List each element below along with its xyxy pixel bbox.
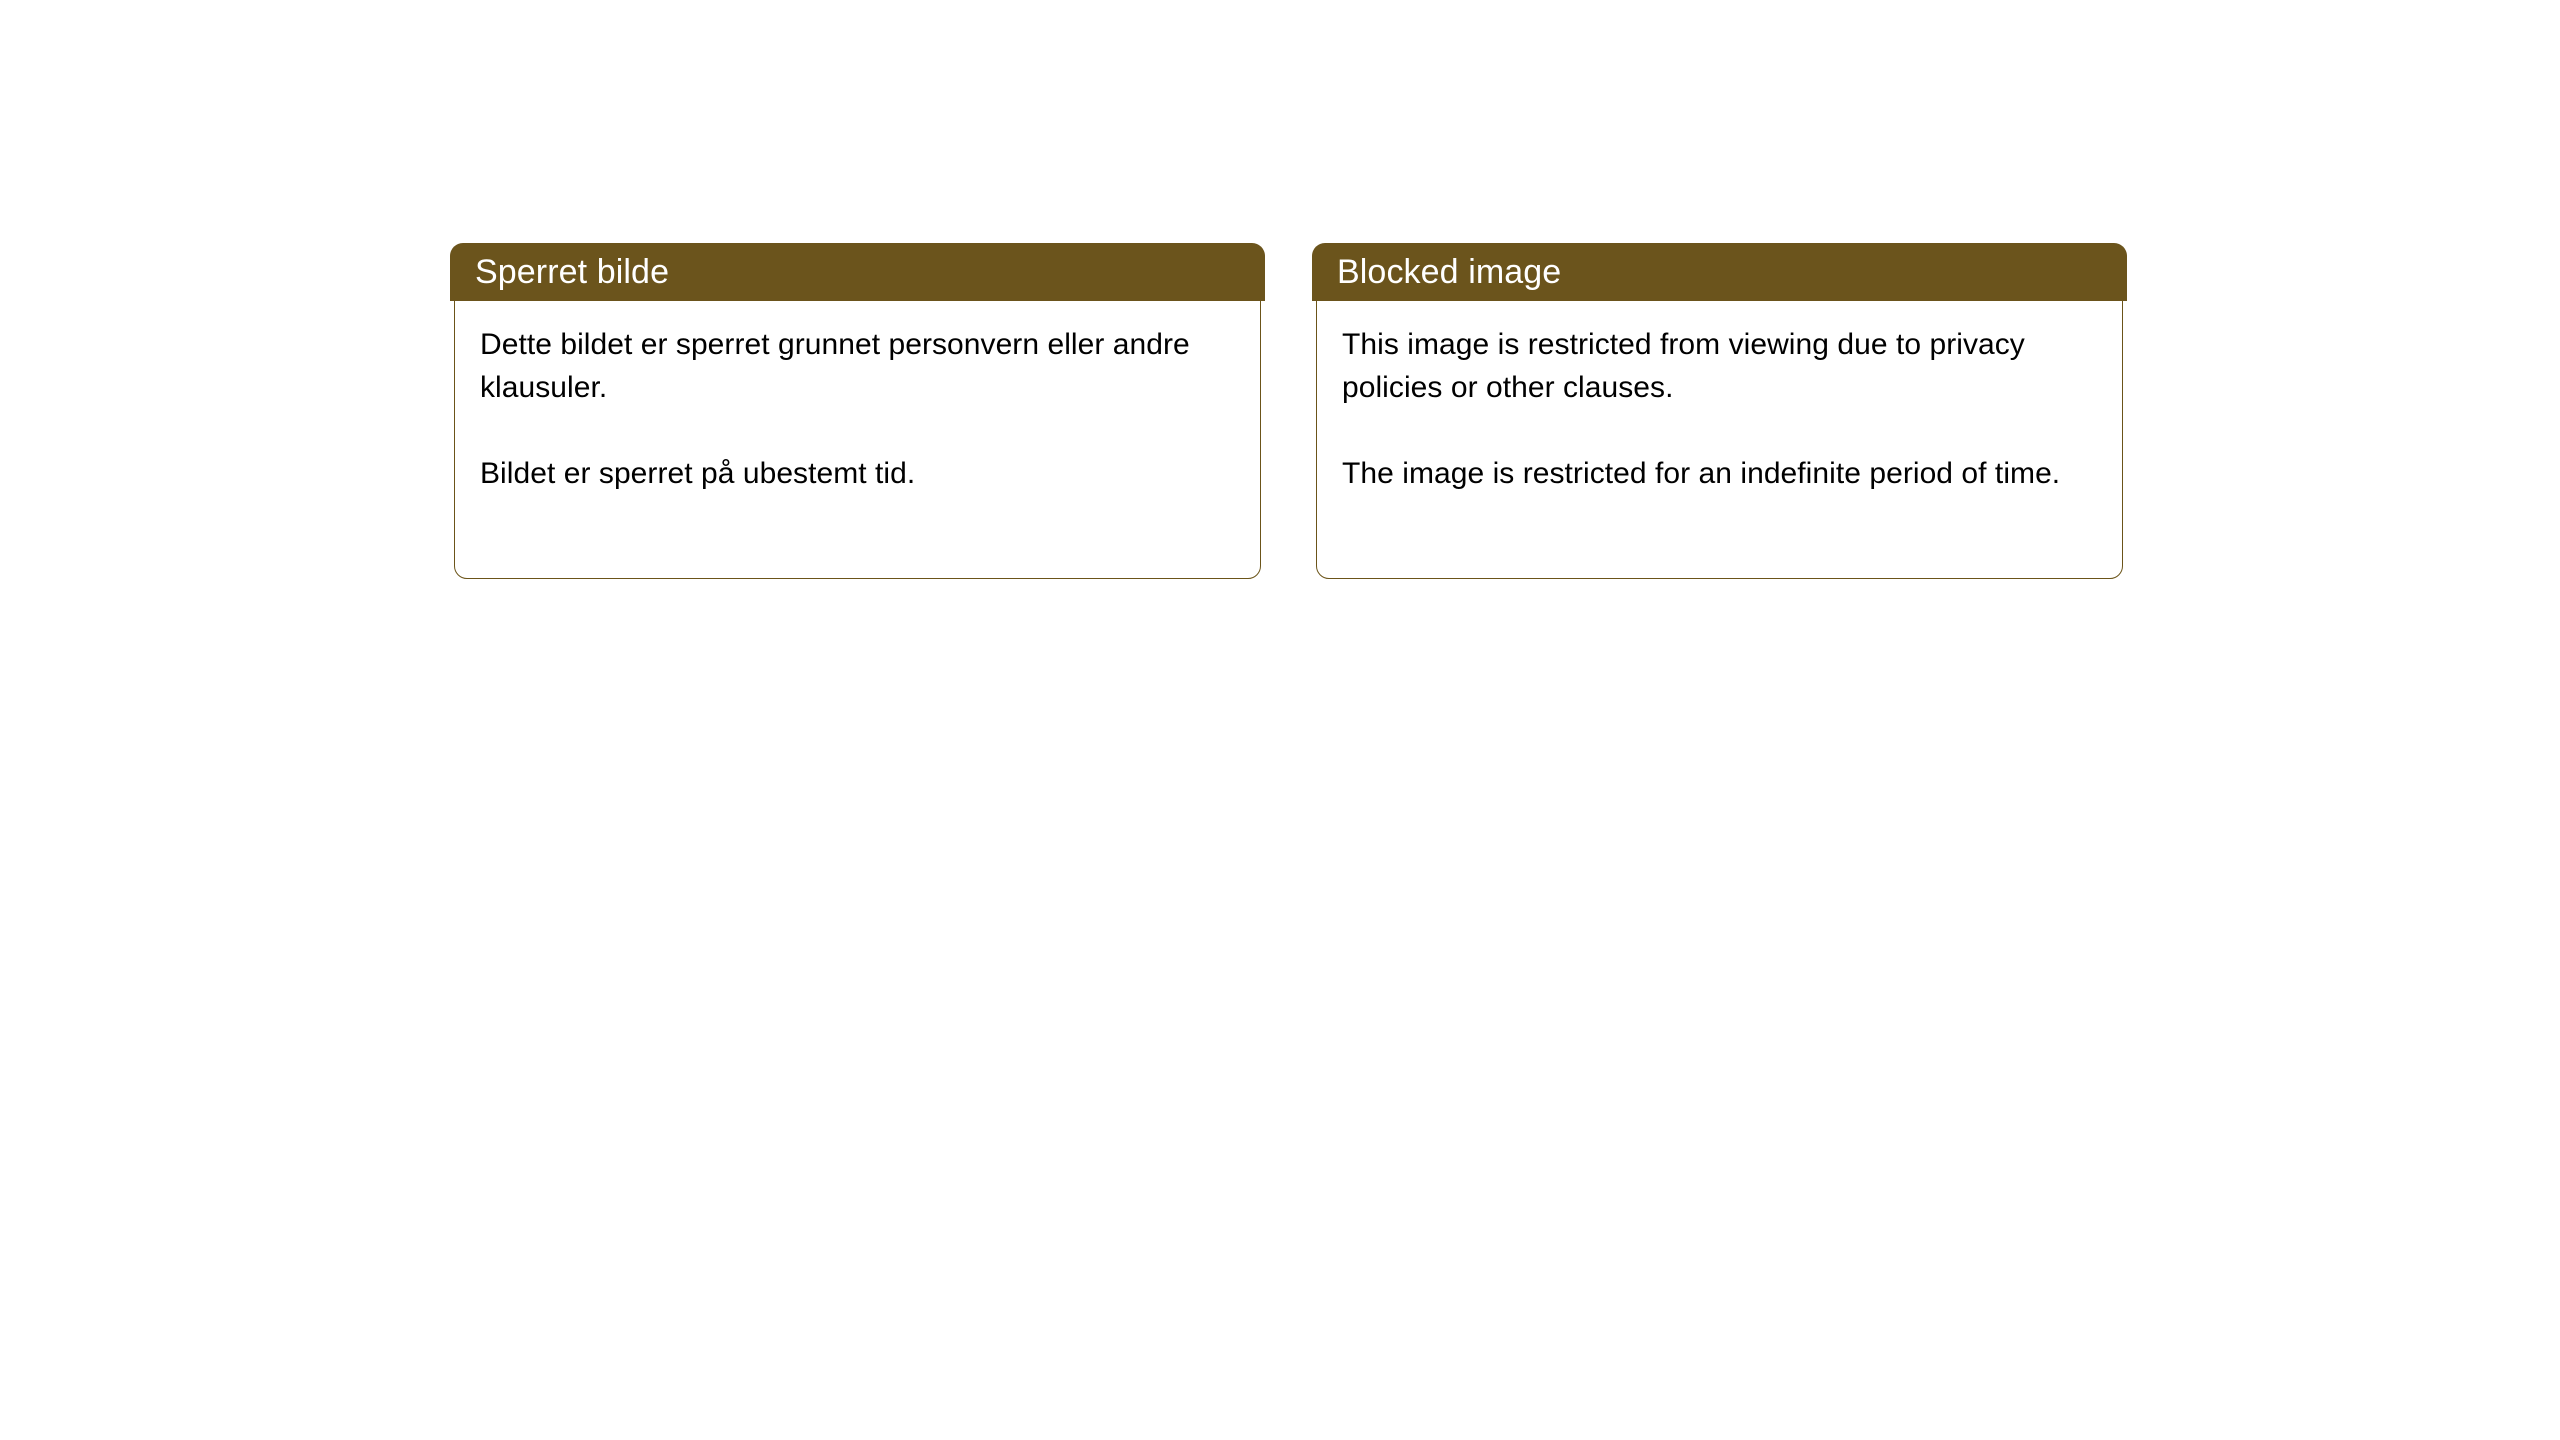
notice-stage: Sperret bilde Dette bildet er sperret gr… [0, 0, 2560, 1440]
notice-content: Dette bildet er sperret grunnet personve… [454, 301, 1261, 579]
notice-header-bar: Blocked image [1312, 243, 2127, 301]
notice-paragraph-2: Bildet er sperret på ubestemt tid. [480, 452, 1235, 495]
notice-paragraph-2: The image is restricted for an indefinit… [1342, 452, 2097, 495]
notice-content: This image is restricted from viewing du… [1316, 301, 2123, 579]
notice-header-bar: Sperret bilde [450, 243, 1265, 301]
notice-paragraph-1: This image is restricted from viewing du… [1342, 323, 2097, 409]
blocked-image-notice-norwegian: Sperret bilde Dette bildet er sperret gr… [450, 243, 1265, 579]
blocked-image-notice-english: Blocked image This image is restricted f… [1312, 243, 2127, 579]
notice-title: Blocked image [1337, 252, 1561, 292]
notice-title: Sperret bilde [475, 252, 669, 292]
notice-paragraph-1: Dette bildet er sperret grunnet personve… [480, 323, 1235, 409]
